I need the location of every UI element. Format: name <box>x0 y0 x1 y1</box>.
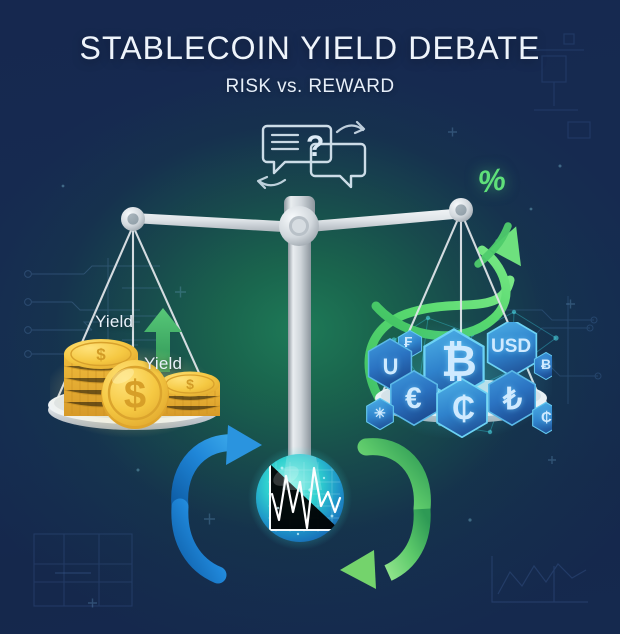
gold-coin-stack: $ $ <box>50 330 230 445</box>
yield-label-upper: Yield <box>95 312 133 332</box>
yield-label-lower: Yield <box>144 354 182 374</box>
page-title: STABLECOIN YIELD DEBATE <box>0 30 620 67</box>
crypto-hex-cluster: ₣ ∪ ₿ USD Ƀ € ₵ ₺ ✳ ₵ <box>366 322 552 443</box>
debate-speech-bubbles: ? <box>251 118 369 195</box>
svg-text:$: $ <box>96 345 106 364</box>
header: STABLECOIN YIELD DEBATE RISK vs. REWARD <box>0 30 620 98</box>
percent-symbol: % <box>476 161 508 200</box>
page-subtitle: RISK vs. REWARD <box>0 76 620 98</box>
volatility-sphere <box>248 446 352 555</box>
infographic-canvas: STABLECOIN YIELD DEBATE RISK vs. REWARD … <box>0 0 620 634</box>
bubble-question-mark: ? <box>306 130 324 163</box>
svg-text:$: $ <box>186 376 194 392</box>
